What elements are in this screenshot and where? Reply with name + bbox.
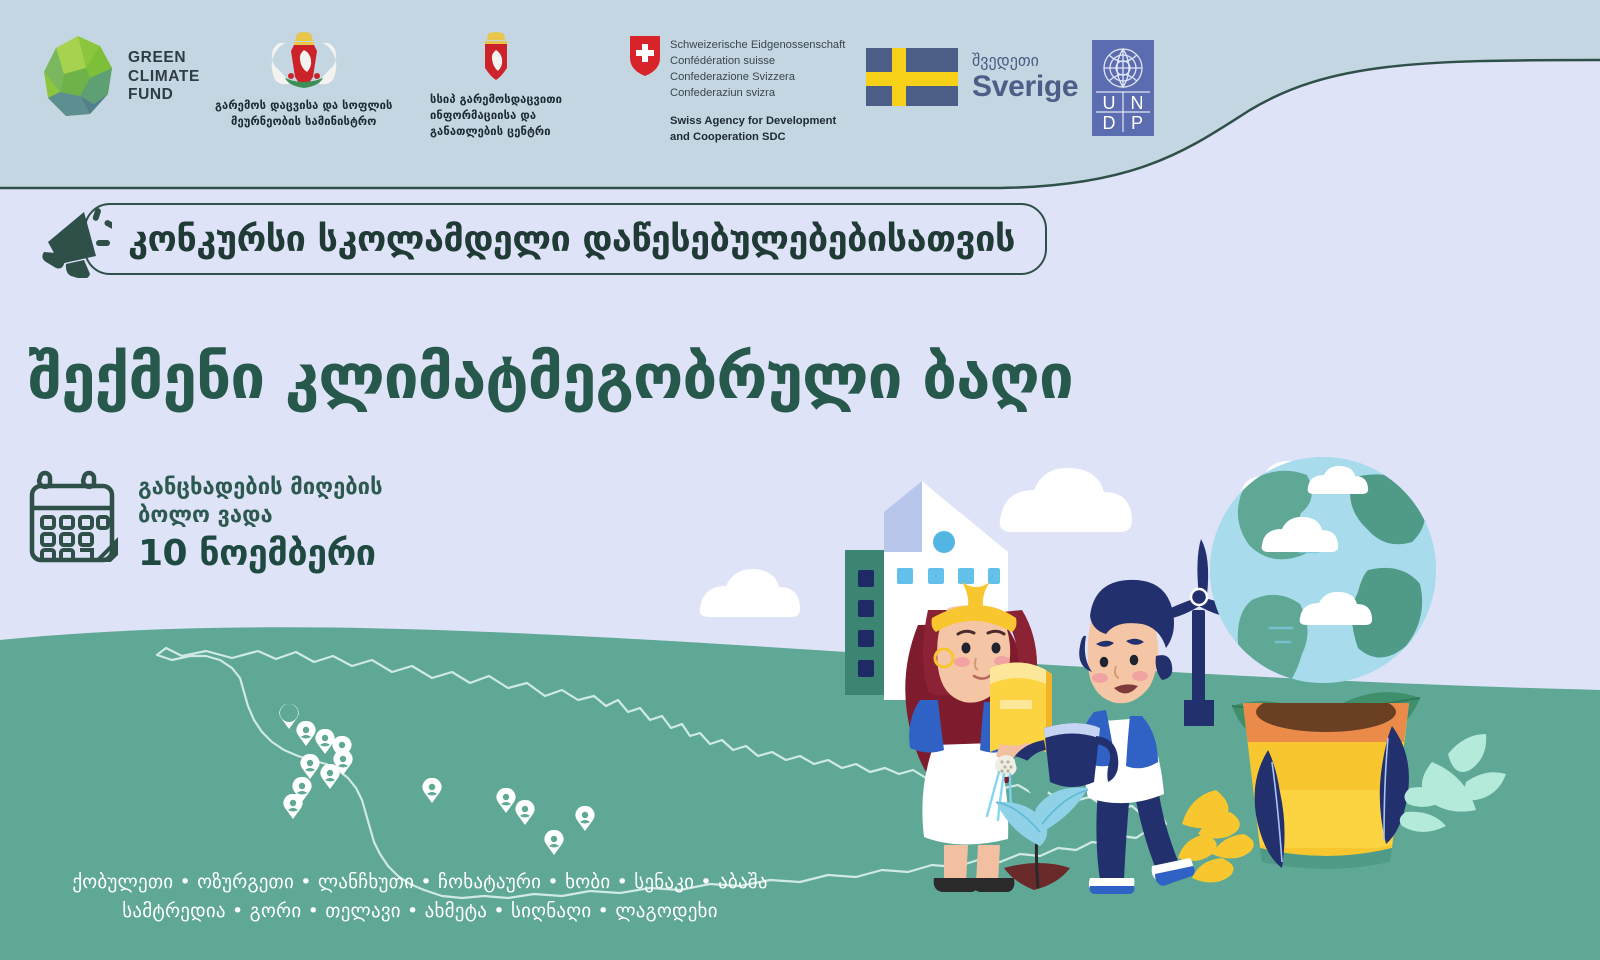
logo-sweden: შვედეთი Sverige <box>866 48 1078 106</box>
ministry-environment-label: გარემოს დაცვისა და სოფლის მეურნეობის სამ… <box>215 98 392 130</box>
ministry-line-2: მეურნეობის სამინისტრო <box>215 114 392 130</box>
logo-eiec: სსიპ გარემოსდაცვითი ინფორმაციისა და განა… <box>430 30 562 141</box>
svg-text:P: P <box>1131 113 1143 133</box>
deadline-block: განცხადების მიღების ბოლო ვადა 10 ნოემბერ… <box>24 470 383 574</box>
partner-logo-row: GREEN CLIMATE FUND <box>0 0 1600 185</box>
swiss-line-1: Schweizerische Eidgenossenschaft <box>670 38 845 54</box>
page-title: შექმენი კლიმატმეგობრული ბაღი <box>28 340 1073 413</box>
poster-canvas: GREEN CLIMATE FUND <box>0 0 1600 960</box>
ministry-line-1: გარემოს დაცვისა და სოფლის <box>215 98 392 114</box>
green-climate-fund-icon <box>42 34 114 120</box>
sweden-label-ka: შვედეთი <box>972 52 1078 70</box>
undp-emblem-icon: UN DP <box>1092 40 1154 136</box>
eiec-label: სსიპ გარემოსდაცვითი ინფორმაციისა და განა… <box>430 92 562 141</box>
municipality-line-2: სამტრედია • გორი • თელავი • ახმეტა • სიღ… <box>0 897 840 926</box>
swiss-agency-line-1: Swiss Agency for Development <box>670 114 845 130</box>
eiec-line-2: ინფორმაციისა და <box>430 108 562 124</box>
calendar-icon <box>24 470 120 566</box>
logo-swiss-sdc: Schweizerische Eidgenossenschaft Confédé… <box>630 36 845 145</box>
municipality-line-1: ქობულეთი • ოზურგეთი • ლანჩხუთი • ჩოხატაუ… <box>0 868 840 897</box>
deadline-label-line2: ბოლო ვადა <box>138 502 383 530</box>
logo-undp: UN DP <box>1092 40 1154 136</box>
deadline-text: განცხადების მიღების ბოლო ვადა 10 ნოემბერ… <box>138 470 383 574</box>
municipality-list: ქობულეთი • ოზურგეთი • ლანჩხუთი • ჩოხატაუ… <box>0 868 840 927</box>
announcement-ribbon: კონკურსი სკოლამდელი დაწესებულებებისათვის <box>34 200 1047 278</box>
eiec-crest-icon <box>479 30 513 86</box>
georgia-coat-of-arms-icon <box>267 30 341 92</box>
eiec-line-3: განათლების ცენტრი <box>430 124 562 140</box>
swiss-line-4: Confederaziun svizra <box>670 86 845 102</box>
swiss-sdc-label: Schweizerische Eidgenossenschaft Confédé… <box>670 36 845 145</box>
sweden-label: შვედეთი Sverige <box>972 52 1078 102</box>
sweden-label-sv: Sverige <box>972 72 1078 102</box>
deadline-date: 10 ნოემბერი <box>138 533 383 574</box>
svg-text:N: N <box>1131 93 1144 113</box>
gcf-line-1: GREEN <box>128 49 200 68</box>
logo-ministry-environment: გარემოს დაცვისა და სოფლის მეურნეობის სამ… <box>215 30 392 130</box>
swiss-shield-icon <box>630 36 660 80</box>
gcf-line-3: FUND <box>128 86 200 105</box>
svg-text:U: U <box>1103 93 1116 113</box>
sweden-flag-icon <box>866 48 958 106</box>
deadline-label-line1: განცხადების მიღების <box>138 474 383 502</box>
ribbon-title: კონკურსი სკოლამდელი დაწესებულებებისათვის <box>128 219 1015 260</box>
swiss-line-2: Confédération suisse <box>670 54 845 70</box>
svg-text:D: D <box>1103 113 1116 133</box>
swiss-agency-line-2: and Cooperation SDC <box>670 130 845 146</box>
eiec-line-1: სსიპ გარემოსდაცვითი <box>430 92 562 108</box>
swiss-line-3: Confederazione Svizzera <box>670 70 845 86</box>
ribbon-box: კონკურსი სკოლამდელი დაწესებულებებისათვის <box>84 203 1047 275</box>
gcf-line-2: CLIMATE <box>128 68 200 87</box>
green-climate-fund-label: GREEN CLIMATE FUND <box>128 49 200 106</box>
logo-green-climate-fund: GREEN CLIMATE FUND <box>42 34 200 120</box>
